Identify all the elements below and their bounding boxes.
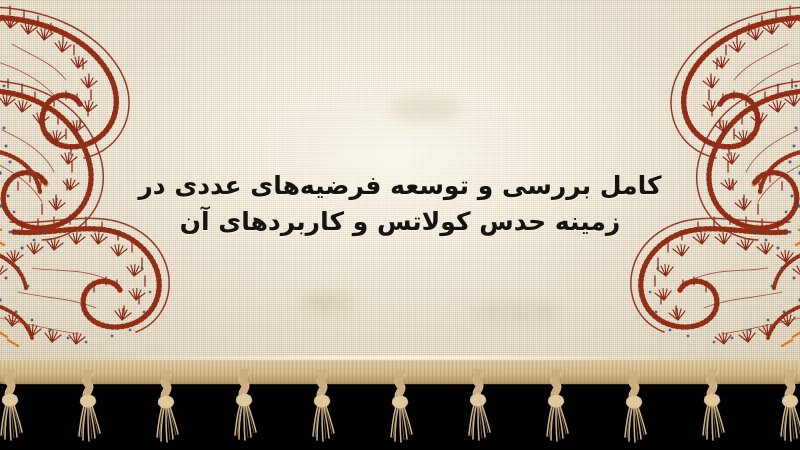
tassel (383, 371, 417, 449)
fabric-stain (470, 300, 560, 322)
tassel (461, 369, 495, 447)
fabric-stain (390, 96, 460, 122)
title-line-1: کامل بررسی و توسعه فرضیه‌های عددی در (0, 168, 800, 204)
tassel (539, 370, 573, 448)
tassel (695, 369, 729, 447)
tassel (773, 370, 800, 448)
fabric-stain (300, 292, 354, 312)
tassel (71, 370, 105, 448)
tassel (149, 371, 183, 449)
tassel (227, 369, 261, 447)
title-line-2: زمینه حدس کولاتس و کاربردهای آن (0, 204, 800, 240)
banner-canvas: کامل بررسی و توسعه فرضیه‌های عددی در زمی… (0, 0, 800, 450)
tassel (617, 371, 651, 449)
tassel-fringe (0, 360, 800, 450)
banner-title: کامل بررسی و توسعه فرضیه‌های عددی در زمی… (0, 168, 800, 240)
tassel (305, 370, 339, 448)
tassel (0, 369, 27, 447)
